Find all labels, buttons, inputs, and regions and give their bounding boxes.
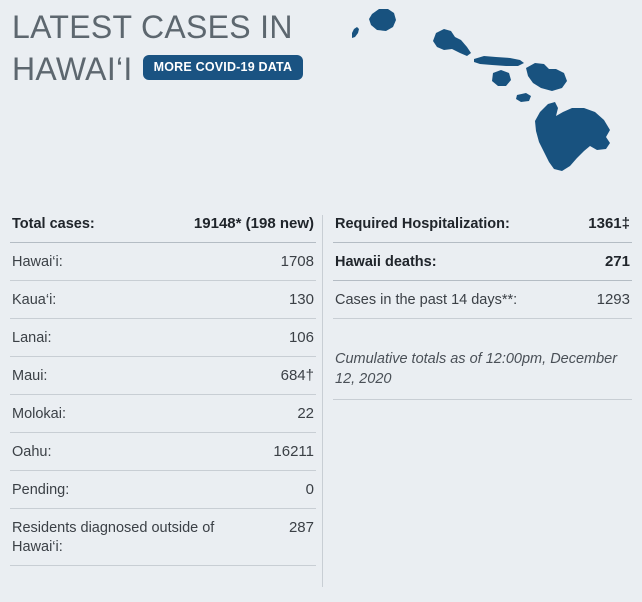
hawaii-islands-map xyxy=(334,0,634,180)
island-niihau xyxy=(352,27,359,38)
row-label: Pending: xyxy=(12,481,79,500)
island-kahoolawe xyxy=(516,93,531,102)
stats-columns: Total cases: 19148* (198 new) Hawai‘i: 1… xyxy=(0,205,642,602)
row-label: Total cases: xyxy=(12,215,105,234)
row-value: 271 xyxy=(605,252,630,271)
table-row: Residents diagnosed outside of Hawai‘i: … xyxy=(10,509,316,566)
row-label: Required Hospitalization: xyxy=(335,215,520,234)
row-value: 19148* (198 new) xyxy=(194,214,314,233)
table-row: Molokai: 22 xyxy=(10,395,316,433)
row-value: 0 xyxy=(306,480,314,499)
island-molokai xyxy=(474,56,524,66)
table-row: Maui: 684† xyxy=(10,357,316,395)
row-value: 1708 xyxy=(281,252,314,271)
row-label: Maui: xyxy=(12,367,57,386)
table-row: Lanai: 106 xyxy=(10,319,316,357)
page-title-line1: LATEST CASES IN xyxy=(12,6,322,48)
table-row: Hawaii deaths: 271 xyxy=(333,243,632,281)
row-value: 22 xyxy=(297,404,314,423)
row-value: 106 xyxy=(289,328,314,347)
row-value: 130 xyxy=(289,290,314,309)
page-title-line2-row: HAWAI‘I MORE COVID-19 DATA xyxy=(12,48,322,90)
row-value: 287 xyxy=(289,518,314,537)
row-value: 16211 xyxy=(273,442,314,461)
cumulative-totals-footnote: Cumulative totals as of 12:00pm, Decembe… xyxy=(333,319,632,400)
island-maui xyxy=(526,63,567,91)
island-oahu xyxy=(433,29,471,56)
row-label: Oahu: xyxy=(12,443,62,462)
left-stats-column: Total cases: 19148* (198 new) Hawai‘i: 1… xyxy=(10,205,316,566)
row-value: 1293 xyxy=(597,290,630,309)
row-value: 684† xyxy=(281,366,314,385)
column-divider xyxy=(322,215,323,587)
table-row: Cases in the past 14 days**: 1293 xyxy=(333,281,632,319)
row-label: Cases in the past 14 days**: xyxy=(335,291,527,310)
title-block: LATEST CASES IN HAWAI‘I MORE COVID-19 DA… xyxy=(12,6,322,90)
table-row: Kaua‘i: 130 xyxy=(10,281,316,319)
island-kauai xyxy=(369,9,396,31)
row-label: Hawai‘i: xyxy=(12,253,73,272)
table-row: Oahu: 16211 xyxy=(10,433,316,471)
table-row: Total cases: 19148* (198 new) xyxy=(10,205,316,243)
row-label: Kaua‘i: xyxy=(12,291,66,310)
right-stats-column: Required Hospitalization: 1361‡ Hawaii d… xyxy=(333,205,632,400)
page-header: LATEST CASES IN HAWAI‘I MORE COVID-19 DA… xyxy=(0,0,642,185)
island-lanai xyxy=(492,70,511,86)
row-label: Residents diagnosed outside of Hawai‘i: xyxy=(12,519,252,557)
table-row: Pending: 0 xyxy=(10,471,316,509)
island-hawaii xyxy=(535,102,610,171)
table-row: Required Hospitalization: 1361‡ xyxy=(333,205,632,243)
more-covid-data-button[interactable]: MORE COVID-19 DATA xyxy=(143,55,304,80)
row-label: Hawaii deaths: xyxy=(335,253,447,272)
page-title-line2: HAWAI‘I xyxy=(12,48,133,90)
row-label: Lanai: xyxy=(12,329,62,348)
row-value: 1361‡ xyxy=(588,214,630,233)
table-row: Hawai‘i: 1708 xyxy=(10,243,316,281)
row-label: Molokai: xyxy=(12,405,76,424)
